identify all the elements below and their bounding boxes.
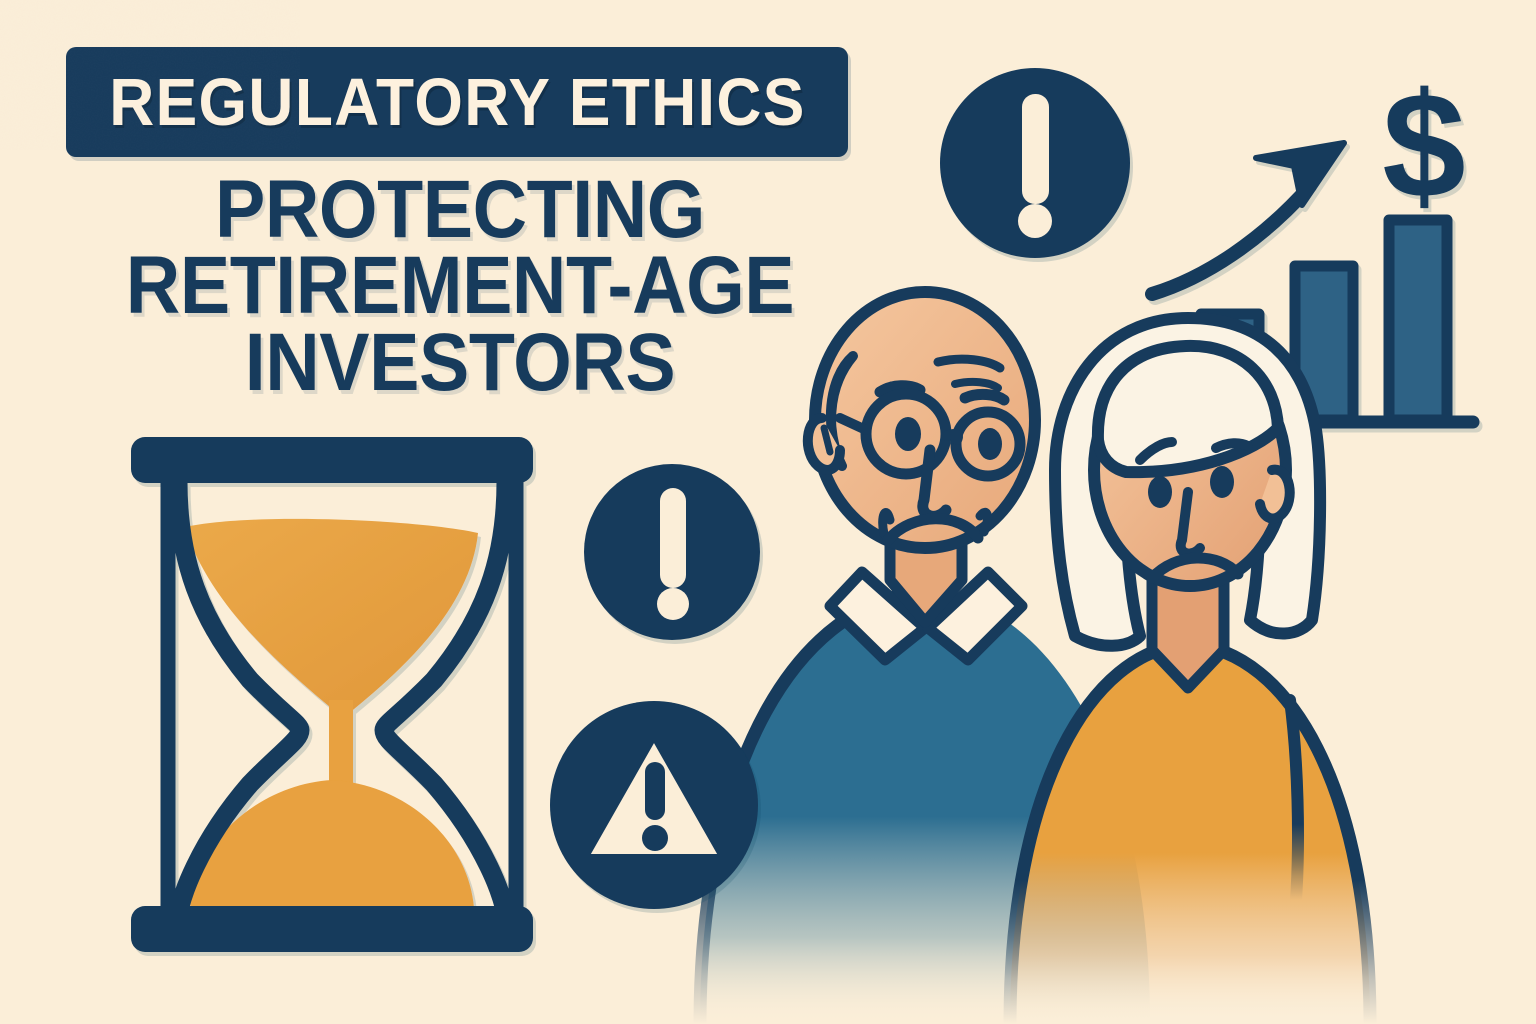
headline-line-3: INVESTORS xyxy=(92,325,828,401)
exclamation-circle-icon-middle xyxy=(584,464,760,640)
kicker-badge: REGULATORY ETHICS xyxy=(66,47,848,157)
poster-canvas: $ xyxy=(0,0,1536,1024)
page-title: PROTECTING RETIREMENT-AGE INVESTORS xyxy=(60,172,860,401)
hourglass-top-cap xyxy=(131,437,533,483)
headline-line-1: PROTECTING xyxy=(92,172,828,248)
warning-triangle-circle-icon xyxy=(550,701,758,909)
headline-line-2: RETIREMENT-AGE xyxy=(92,248,828,324)
kicker-label: REGULATORY ETHICS xyxy=(109,69,806,136)
hourglass-icon xyxy=(131,437,533,952)
hourglass-bottom-cap xyxy=(131,906,533,952)
